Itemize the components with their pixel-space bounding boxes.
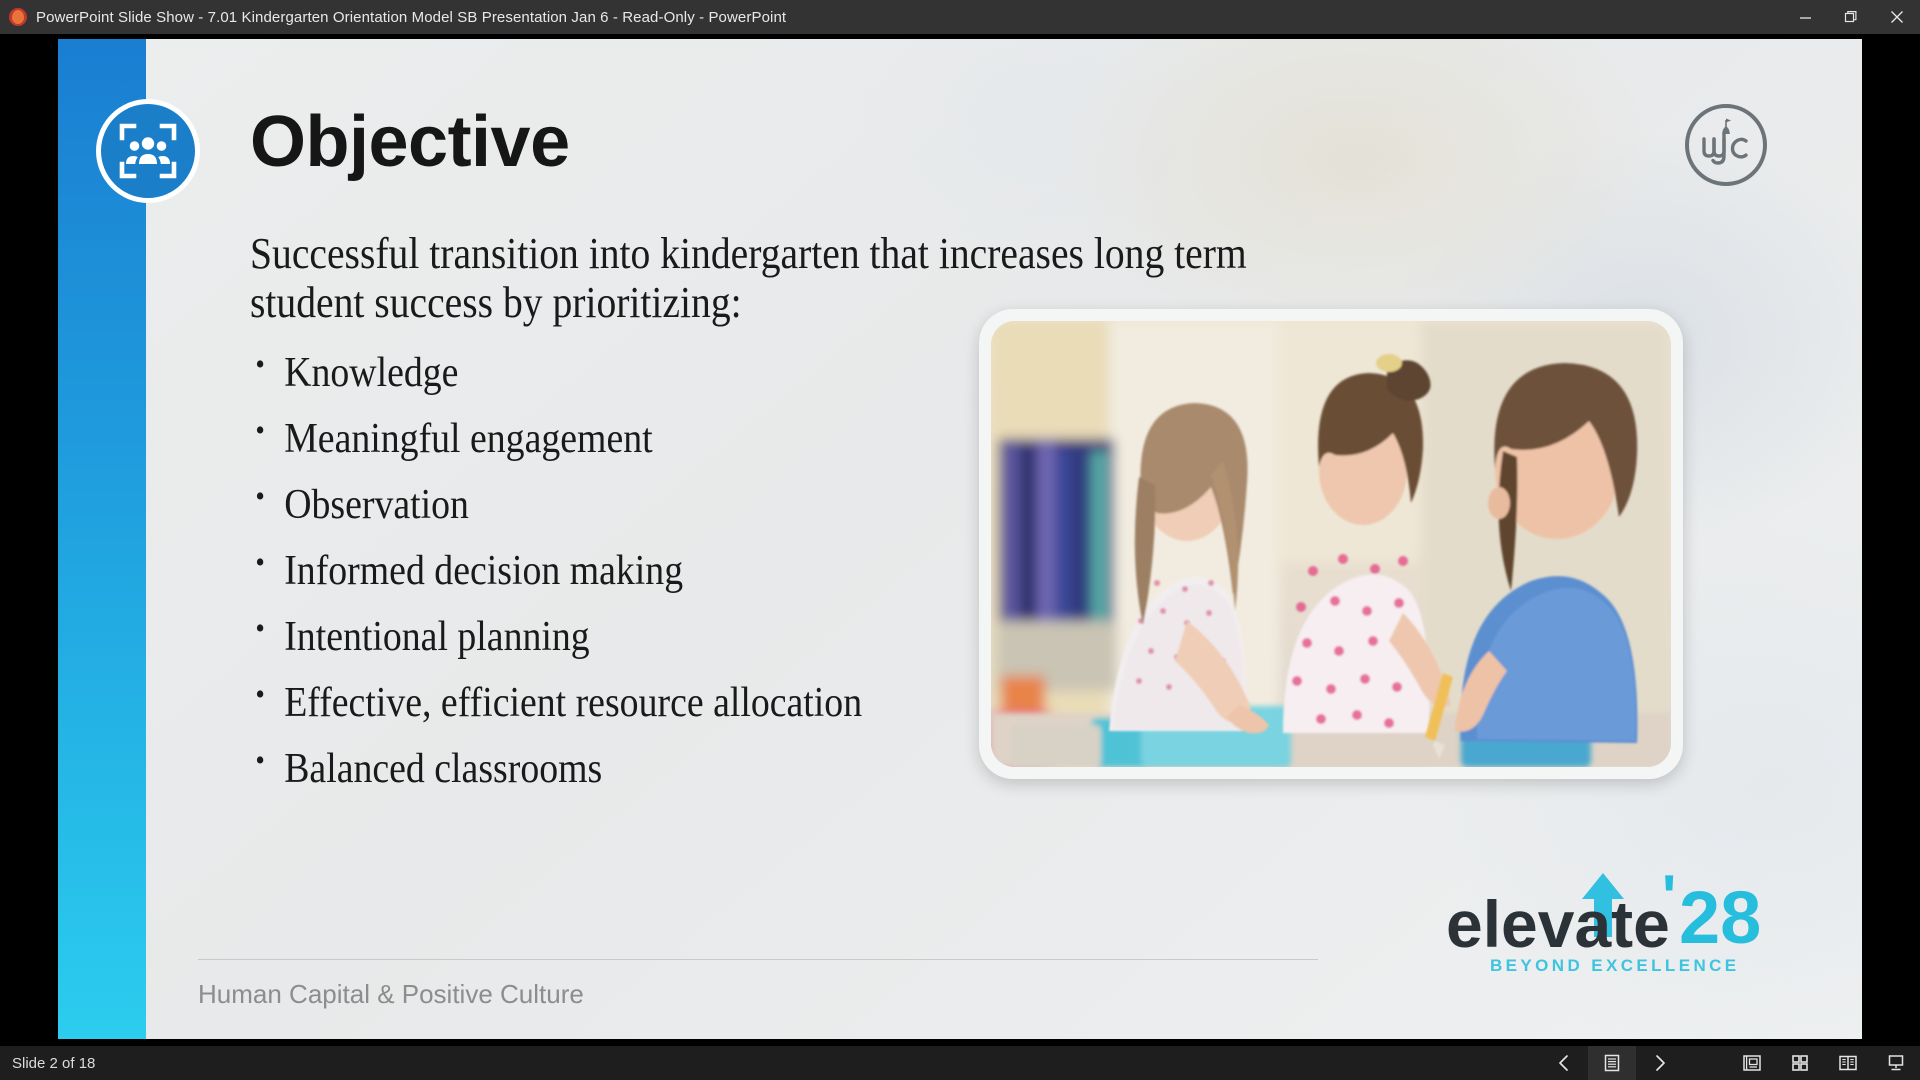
- footer-label: Human Capital & Positive Culture: [198, 979, 584, 1010]
- slide-show-button[interactable]: [1872, 1046, 1920, 1080]
- classroom-photo: [991, 321, 1671, 767]
- slide-show-stage[interactable]: Objective Successful transition: [0, 34, 1920, 1046]
- window-controls: [1782, 0, 1920, 34]
- window-title-bar: PowerPoint Slide Show - 7.01 Kindergarte…: [0, 0, 1920, 34]
- page-title: Objective: [250, 101, 570, 183]
- slide-menu-button[interactable]: [1588, 1046, 1636, 1080]
- slide-counter: Slide 2 of 18: [12, 1055, 95, 1072]
- logo-year: 28: [1679, 876, 1761, 959]
- classroom-photo-card: [979, 309, 1683, 779]
- minimize-button[interactable]: [1782, 0, 1828, 34]
- close-button[interactable]: [1874, 0, 1920, 34]
- slideshow-status-bar: Slide 2 of 18: [0, 1046, 1920, 1080]
- window-title: PowerPoint Slide Show - 7.01 Kindergarte…: [36, 9, 786, 26]
- slideshow-toolbar: [1540, 1046, 1920, 1080]
- logo-apostrophe: ': [1662, 871, 1676, 930]
- slide-canvas[interactable]: Objective Successful transition: [58, 39, 1862, 1039]
- logo-tagline: BEYOND EXCELLENCE: [1490, 956, 1740, 975]
- next-slide-button[interactable]: [1636, 1046, 1684, 1080]
- reading-view-button[interactable]: [1824, 1046, 1872, 1080]
- previous-slide-button[interactable]: [1540, 1046, 1588, 1080]
- wjcc-circular-logo: [1682, 101, 1770, 189]
- slide-sorter-button[interactable]: [1776, 1046, 1824, 1080]
- restore-button[interactable]: [1828, 0, 1874, 34]
- footer-divider: [198, 959, 1318, 960]
- normal-view-button[interactable]: [1728, 1046, 1776, 1080]
- powerpoint-icon: [9, 8, 27, 26]
- audience-focus-icon: [96, 99, 200, 203]
- elevate-28-logo: elevate ' 28 BEYOND EXCELLENCE: [1444, 871, 1774, 981]
- logo-wordmark: elevate: [1446, 887, 1670, 961]
